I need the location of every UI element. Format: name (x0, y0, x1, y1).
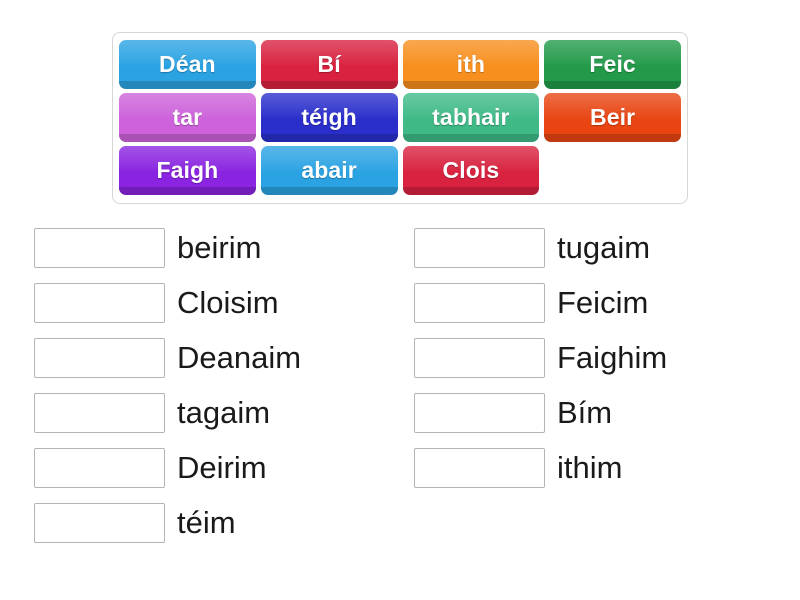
word-tile-tabhair[interactable]: tabhair (403, 93, 540, 142)
answer-label: Faighim (557, 337, 667, 379)
word-tile-label: Déan (159, 53, 216, 76)
answer-column-left: beirim Cloisim Deanaim tagaim Deirim téi… (34, 227, 414, 557)
word-tile-ith[interactable]: ith (403, 40, 540, 89)
drop-box[interactable] (34, 393, 165, 433)
answer-row: Cloisim (34, 282, 414, 324)
word-tile-dean[interactable]: Déan (119, 40, 256, 89)
answer-row: ithim (414, 447, 794, 489)
answer-row: Deirim (34, 447, 414, 489)
answer-label: Deirim (177, 447, 267, 489)
answer-label: beirim (177, 227, 261, 269)
word-tile-label: abair (301, 159, 356, 182)
answer-label: Deanaim (177, 337, 301, 379)
drop-box[interactable] (34, 338, 165, 378)
answer-label: tagaim (177, 392, 270, 434)
word-tile-label: Faigh (156, 159, 218, 182)
word-tile-label: Beir (590, 106, 635, 129)
drop-box[interactable] (414, 283, 545, 323)
answer-columns: beirim Cloisim Deanaim tagaim Deirim téi… (0, 227, 800, 557)
answer-label: Cloisim (177, 282, 279, 324)
drop-box[interactable] (34, 448, 165, 488)
word-tile-label: téigh (301, 106, 356, 129)
answer-row: Deanaim (34, 337, 414, 379)
word-tile-label: Bí (318, 53, 341, 76)
word-bank-row-1: Déan Bí ith Feic (119, 40, 681, 89)
drop-box[interactable] (414, 338, 545, 378)
word-tile-label: Feic (589, 53, 635, 76)
word-tile-beir[interactable]: Beir (544, 93, 681, 142)
answer-row: tugaim (414, 227, 794, 269)
answer-row: beirim (34, 227, 414, 269)
answer-label: téim (177, 502, 236, 544)
word-tile-label: tar (173, 106, 203, 129)
word-tile-teigh[interactable]: téigh (261, 93, 398, 142)
answer-row: Faighim (414, 337, 794, 379)
word-bank-container: Déan Bí ith Feic tar téigh tabhair Beir … (112, 32, 688, 204)
answer-label: tugaim (557, 227, 650, 269)
word-bank-row-3: Faigh abair Clois (119, 146, 681, 195)
word-tile-empty-slot (544, 146, 681, 195)
drop-box[interactable] (414, 393, 545, 433)
answer-row: Feicim (414, 282, 794, 324)
drop-box[interactable] (414, 228, 545, 268)
word-tile-abair[interactable]: abair (261, 146, 398, 195)
answer-row: téim (34, 502, 414, 544)
word-tile-label: ith (457, 53, 485, 76)
answer-label: Feicim (557, 282, 648, 324)
answer-row: Bím (414, 392, 794, 434)
drop-box[interactable] (414, 448, 545, 488)
word-tile-label: tabhair (432, 106, 509, 129)
answer-label: Bím (557, 392, 612, 434)
word-tile-feic[interactable]: Feic (544, 40, 681, 89)
word-tile-label: Clois (443, 159, 500, 182)
answer-row: tagaim (34, 392, 414, 434)
drop-box[interactable] (34, 503, 165, 543)
word-tile-clois[interactable]: Clois (403, 146, 540, 195)
word-bank-row-2: tar téigh tabhair Beir (119, 93, 681, 142)
answer-column-right: tugaim Feicim Faighim Bím ithim (414, 227, 794, 557)
drop-box[interactable] (34, 283, 165, 323)
answer-area: beirim Cloisim Deanaim tagaim Deirim téi… (0, 227, 800, 557)
word-tile-bi[interactable]: Bí (261, 40, 398, 89)
answer-label: ithim (557, 447, 622, 489)
drop-box[interactable] (34, 228, 165, 268)
word-tile-faigh[interactable]: Faigh (119, 146, 256, 195)
word-tile-tar[interactable]: tar (119, 93, 256, 142)
